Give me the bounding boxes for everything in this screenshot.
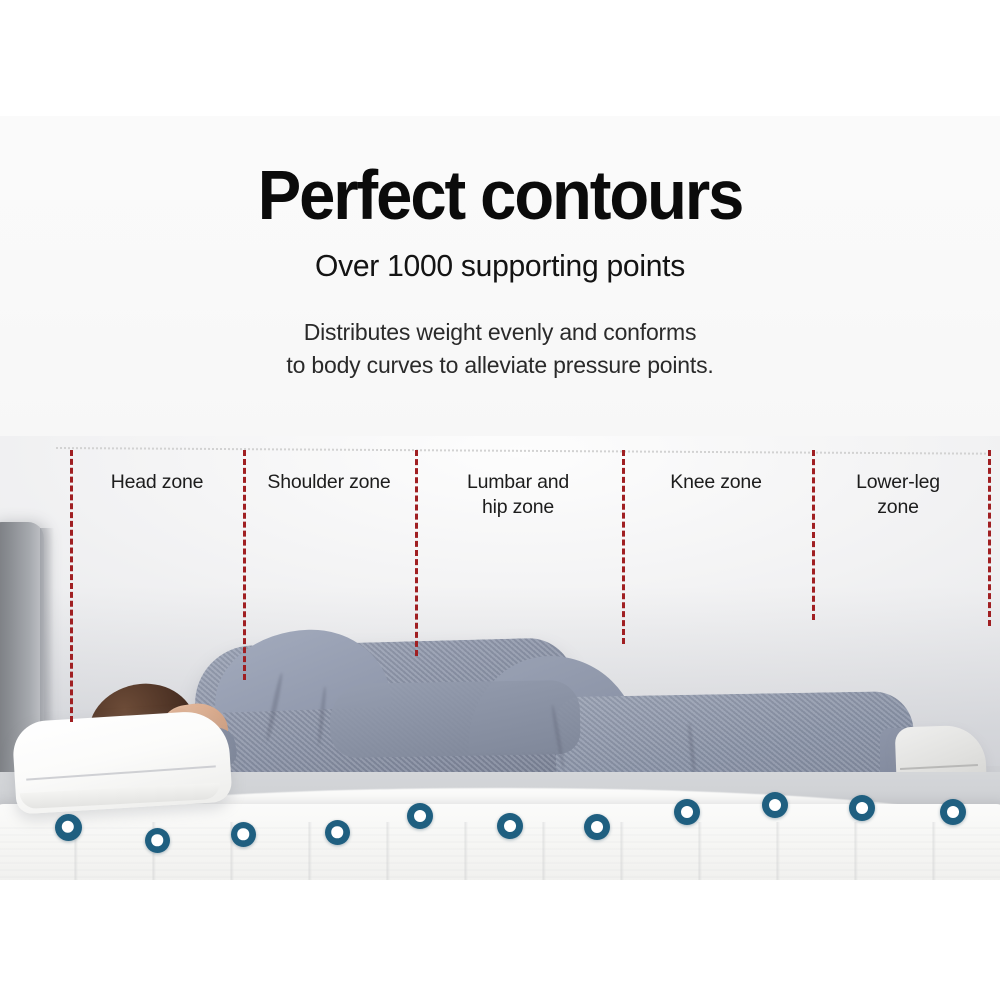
support-point-marker	[55, 814, 82, 841]
top-white-band	[0, 0, 1000, 116]
sleeper-arm	[329, 680, 580, 758]
page-title: Perfect contours	[35, 160, 965, 230]
support-point-marker	[762, 792, 788, 818]
body-copy-line-2: to body curves to alleviate pressure poi…	[0, 349, 1000, 382]
page-subtitle: Over 1000 supporting points	[15, 248, 985, 284]
product-feature-image: Perfect contours Over 1000 supporting po…	[0, 0, 1000, 1000]
support-point-marker	[674, 799, 700, 825]
body-copy-line-1: Distributes weight evenly and conforms	[0, 316, 1000, 349]
support-point-marker	[584, 814, 610, 840]
support-point-marker	[145, 828, 170, 853]
bottom-white-band	[0, 880, 1000, 1000]
copy-block: Perfect contours Over 1000 supporting po…	[0, 160, 1000, 383]
support-point-marker	[325, 820, 350, 845]
support-point-marker	[497, 813, 523, 839]
support-point-marker	[231, 822, 256, 847]
support-point-marker	[407, 803, 433, 829]
body-copy: Distributes weight evenly and conforms t…	[0, 316, 1000, 383]
support-point-marker	[940, 799, 966, 825]
support-point-marker	[849, 795, 875, 821]
